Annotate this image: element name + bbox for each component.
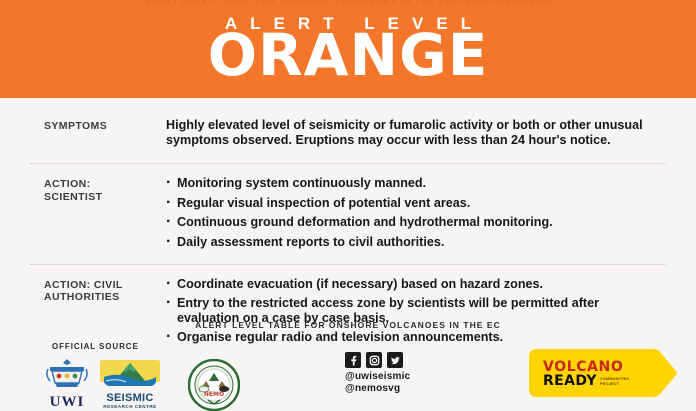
alert-level-table: SYMPTOMS Highly elevated level of seismi… [0, 98, 696, 345]
official-source-block: OFFICIAL SOURCE UWI [44, 342, 240, 410]
volcano-ready-text-block: VOLCANO READY COMMUNITIES PROJECT [543, 361, 668, 388]
seismic-logo-caption: SEISMIC RESEARCH CENTRE [100, 393, 160, 410]
social-handles: @uwiseismic @nemosvg [345, 371, 410, 395]
list-item: Continuous ground deformation and hydrot… [166, 215, 662, 230]
list-item: Daily assessment reports to civil author… [166, 235, 662, 250]
symptoms-text: Highly elevated level of seismicity or f… [166, 118, 662, 147]
row-label-action-civil-authorities: ACTION: CIVIL AUTHORITIES [44, 277, 166, 345]
handle-uwiseismic[interactable]: @uwiseismic [345, 371, 410, 383]
svg-text:NEMO: NEMO [204, 391, 224, 398]
list-item: Regular visual inspection of potential v… [166, 196, 662, 211]
row-content-action-scientist: Monitoring system continuously manned. R… [166, 176, 662, 249]
footer: OFFICIAL SOURCE UWI [0, 342, 696, 405]
civil-authorities-bullet-list: Coordinate evacuation (if necessary) bas… [166, 277, 662, 345]
table-row-action-scientist: ACTION: SCIENTIST Monitoring system cont… [0, 164, 696, 249]
volcano-ready-line2: READY [543, 374, 597, 388]
row-label-action-scientist: ACTION: SCIENTIST [44, 176, 166, 249]
uwi-crest-icon [44, 357, 90, 389]
row-content-action-civil-authorities: Coordinate evacuation (if necessary) bas… [166, 277, 662, 345]
handle-nemosvg[interactable]: @nemosvg [345, 383, 410, 395]
social-icons [345, 352, 410, 368]
table-row-symptoms: SYMPTOMS Highly elevated level of seismi… [0, 98, 696, 147]
alert-level-header-banner: ALERT LEVEL TABLE FOR ONSHORE VOLCANOES … [0, 0, 696, 98]
row-content-symptoms: Highly elevated level of seismicity or f… [166, 118, 662, 147]
seismic-logo-caption-main: SEISMIC [106, 392, 153, 404]
instagram-icon[interactable] [366, 352, 382, 368]
nemo-logo-box: NEMO [188, 359, 240, 410]
list-item: Coordinate evacuation (if necessary) bas… [166, 277, 662, 292]
volcano-ready-subtext: COMMUNITIES PROJECT [600, 377, 629, 388]
seismic-logo-box: SEISMIC RESEARCH CENTRE [100, 356, 160, 410]
volcano-ready-sub1: COMMUNITIES [600, 377, 629, 381]
facebook-icon[interactable] [345, 352, 361, 368]
nemo-seal-icon: NEMO [188, 359, 240, 411]
social-block: @uwiseismic @nemosvg [345, 352, 410, 395]
official-source-label: OFFICIAL SOURCE [52, 342, 240, 351]
alert-level-name: ORANGE [0, 26, 696, 84]
uwi-logo-caption: UWI [44, 395, 90, 410]
scientist-bullet-list: Monitoring system continuously manned. R… [166, 176, 662, 249]
seismic-volcano-icon [100, 356, 160, 387]
table-caption: ALERT LEVEL TABLE FOR ONSHORE VOLCANOES … [0, 320, 696, 330]
uwi-logo-box: UWI [44, 357, 90, 410]
header-cutoff-text: ALERT LEVEL TABLE FOR ONSHORE VOLCANOES … [0, 0, 696, 5]
volcano-ready-line2-row: READY COMMUNITIES PROJECT [543, 374, 668, 388]
volcano-ready-sub2: PROJECT [600, 382, 629, 386]
logo-strip: UWI SEISMIC RESEARCH CENTRE [44, 356, 240, 410]
twitter-icon[interactable] [387, 352, 403, 368]
row-label-symptoms: SYMPTOMS [44, 118, 166, 147]
table-row-action-civil-authorities: ACTION: CIVIL AUTHORITIES Coordinate eva… [0, 265, 696, 345]
volcano-ready-logo: VOLCANO READY COMMUNITIES PROJECT [528, 347, 678, 399]
list-item: Monitoring system continuously manned. [166, 176, 662, 191]
